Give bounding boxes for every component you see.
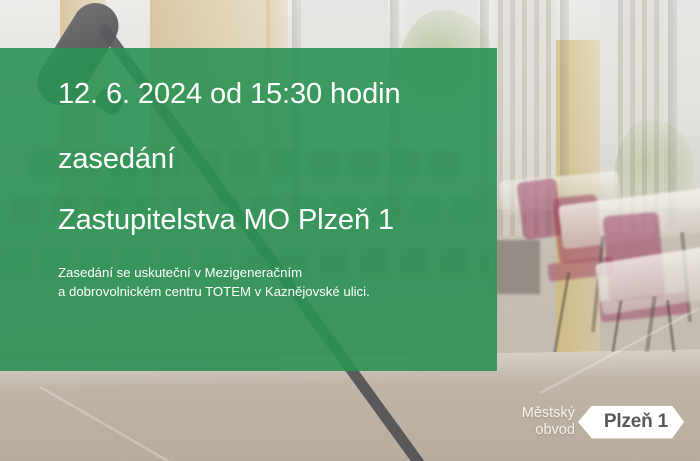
logo-wordmark: Městský obvod [522,405,575,439]
logo-banner-plzen-1: Plzeň 1 [578,406,684,439]
logo-wordmark-line-1: Městský [522,405,575,422]
event-type-headline: zasedání [58,145,478,174]
event-announcement-banner: 12. 6. 2024 od 15:30 hodin zasedání Zast… [0,0,700,461]
photo-planter [496,240,540,294]
event-location-text: Zasedání se uskuteční v Mezigeneračním a… [58,263,478,301]
event-location-line-2: a dobrovolnickém centru TOTEM v Kaznějov… [58,282,478,301]
event-body-headline: Zastupitelstva MO Plzeň 1 [58,206,478,235]
logo-wordmark-line-2: obvod [522,422,575,439]
city-district-logo: Městský obvod Plzeň 1 [522,405,684,439]
event-datetime-headline: 12. 6. 2024 od 15:30 hodin [58,80,478,109]
announcement-content: 12. 6. 2024 od 15:30 hodin zasedání Zast… [58,80,478,301]
event-location-line-1: Zasedání se uskuteční v Mezigeneračním [58,263,478,282]
